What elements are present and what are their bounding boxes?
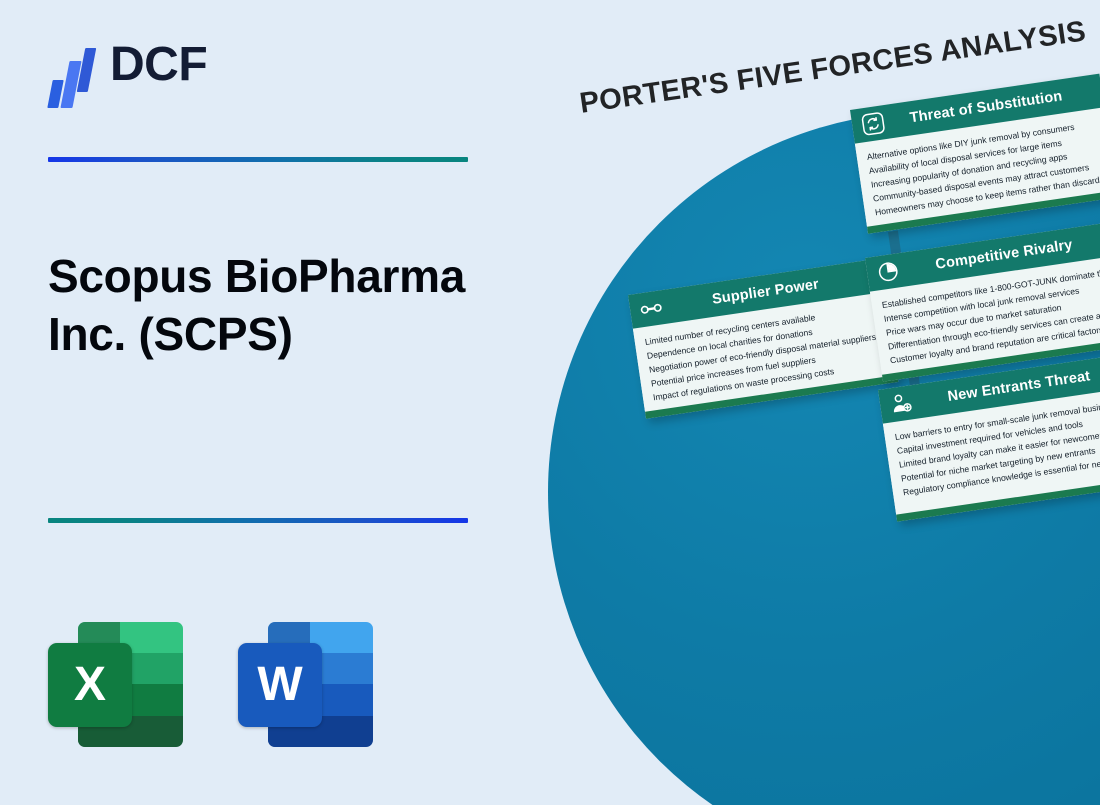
word-letter-tile: W (238, 643, 322, 727)
refresh-sync-icon (860, 110, 887, 137)
force-card-supplier-power[interactable]: Supplier Power Limited number of recycli… (628, 258, 898, 419)
excel-letter-tile: X (48, 643, 132, 727)
person-add-icon (888, 390, 915, 417)
brand-logo[interactable]: DCF (48, 38, 207, 96)
logo-wordmark: DCF (110, 41, 207, 93)
excel-file-icon[interactable]: X (48, 622, 183, 747)
force-cards-group: Threat of Substitution Alternative optio… (520, 0, 1100, 805)
pie-chart-icon (875, 258, 902, 285)
force-card-competitive-rivalry[interactable]: Competitive Rivalry Established competit… (865, 221, 1100, 382)
page-title: Scopus BioPharma Inc. (SCPS) (48, 248, 488, 364)
link-chain-icon (638, 295, 665, 322)
force-card-threat-of-substitution[interactable]: Threat of Substitution Alternative optio… (850, 74, 1100, 234)
left-info-panel: DCF Scopus BioPharma Inc. (SCPS) X W (0, 0, 520, 805)
porter-five-forces-illustration: PORTER'S FIVE FORCES ANALYSIS Threat of … (520, 0, 1100, 805)
dcf-bars-logo (48, 38, 96, 96)
divider-top (48, 157, 468, 162)
divider-bottom (48, 518, 468, 523)
word-file-icon[interactable]: W (238, 622, 373, 747)
file-format-icons: X W (48, 622, 373, 747)
force-card-new-entrants-threat[interactable]: New Entrants Threat Low barriers to entr… (878, 352, 1100, 521)
